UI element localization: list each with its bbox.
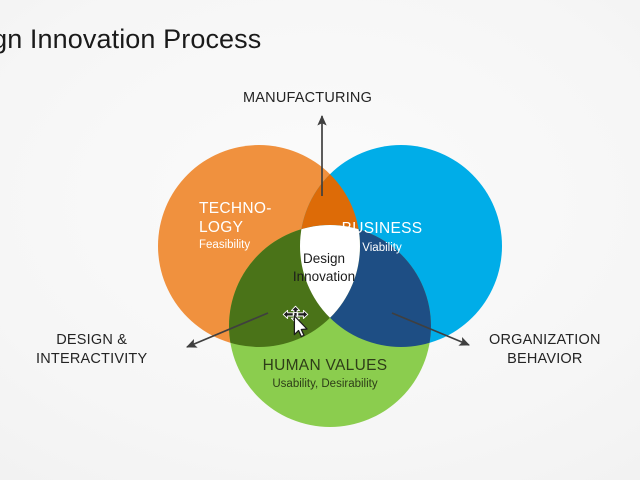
presentation-slide: ign Innovation Process MANUFACTURING DES… xyxy=(0,0,640,480)
label-business-subtitle: Viability xyxy=(362,242,402,254)
label-technology-line2: LOGY xyxy=(199,219,243,236)
label-technology-subtitle: Feasibility xyxy=(199,239,250,251)
label-business-line1: BUSINESS xyxy=(342,220,423,237)
venn-diagram[interactable]: TECHNO- LOGY Feasibility BUSINESS Viabil… xyxy=(0,0,640,480)
label-technology-line1: TECHNO- xyxy=(199,200,272,217)
label-center-line1: Design xyxy=(303,251,345,266)
label-center-line2: Innovation xyxy=(293,269,355,284)
label-human-values-subtitle: Usability, Desirability xyxy=(272,378,377,390)
label-human-values: HUMAN VALUES Usability, Desirability xyxy=(263,357,388,390)
label-human-values-line1: HUMAN VALUES xyxy=(263,357,388,374)
